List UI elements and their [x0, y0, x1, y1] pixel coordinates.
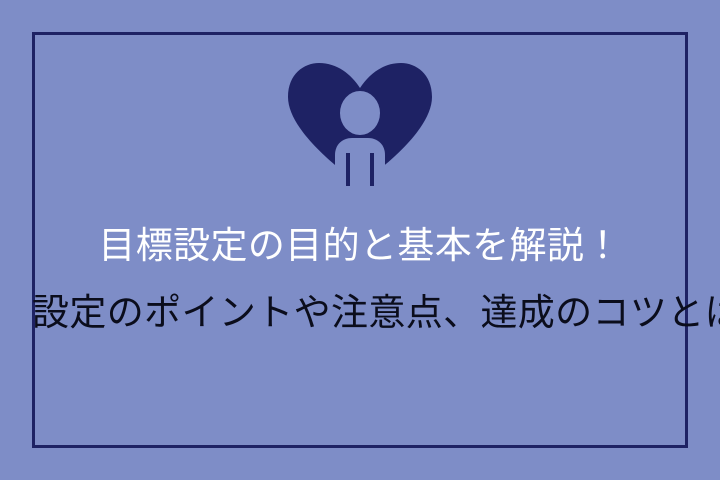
headline-secondary: 設定のポイントや注意点、達成のコツとは — [32, 285, 688, 343]
heart-with-person-icon — [0, 60, 720, 190]
headline-primary: 目標設定の目的と基本を解説！ — [32, 218, 688, 276]
slide-canvas: 目標設定の目的と基本を解説！ 設定のポイントや注意点、達成のコツとは — [0, 0, 720, 480]
person-left-arm-line — [346, 153, 350, 186]
person-right-arm-line — [370, 153, 374, 186]
heart-with-person-icon-svg — [286, 60, 434, 186]
person-head — [340, 91, 380, 135]
person-body — [335, 138, 385, 186]
page-title: 目標設定の目的と基本を解説！ 設定のポイントや注意点、達成のコツとは — [32, 218, 688, 343]
